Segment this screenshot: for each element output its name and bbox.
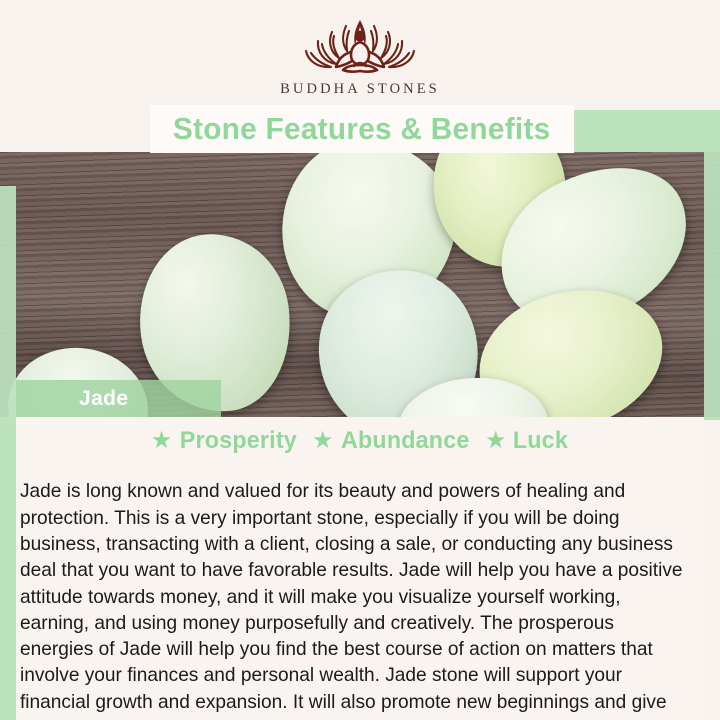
photo-wood-background xyxy=(0,152,720,417)
star-icon: ★ xyxy=(485,429,507,453)
benefit-label: Luck xyxy=(513,427,568,455)
benefit-label: Abundance xyxy=(341,427,470,455)
stone-name-bar: Jade xyxy=(16,380,221,418)
page-title: Stone Features & Benefits xyxy=(173,111,551,147)
title-banner: Stone Features & Benefits xyxy=(150,105,574,153)
benefit-label: Prosperity xyxy=(180,427,297,455)
star-icon: ★ xyxy=(151,429,173,453)
photo-frame-left-overlay xyxy=(0,186,16,417)
benefit-item-abundance: ★ Abundance xyxy=(312,427,472,455)
brand-name: BUDDHA STONES xyxy=(240,81,480,98)
photo-frame-right-overlay xyxy=(704,152,720,417)
stone-name-label: Jade xyxy=(79,387,128,411)
description-panel: ★ Prosperity ★ Abundance ★ Luck Jade is … xyxy=(16,417,704,720)
stone-photo xyxy=(0,152,720,417)
benefit-item-luck: ★ Luck xyxy=(485,427,569,455)
infographic-page: BUDDHA STONES Stone Features & Benefits … xyxy=(0,0,720,720)
benefit-item-prosperity: ★ Prosperity xyxy=(151,427,299,455)
description-text: Jade is long known and valued for its be… xyxy=(20,478,690,720)
brand-header: BUDDHA STONES xyxy=(0,0,720,110)
benefits-row: ★ Prosperity ★ Abundance ★ Luck xyxy=(16,427,704,455)
brand-logo: BUDDHA STONES xyxy=(240,14,480,98)
star-icon: ★ xyxy=(312,429,334,453)
lotus-meditation-icon xyxy=(298,14,422,80)
